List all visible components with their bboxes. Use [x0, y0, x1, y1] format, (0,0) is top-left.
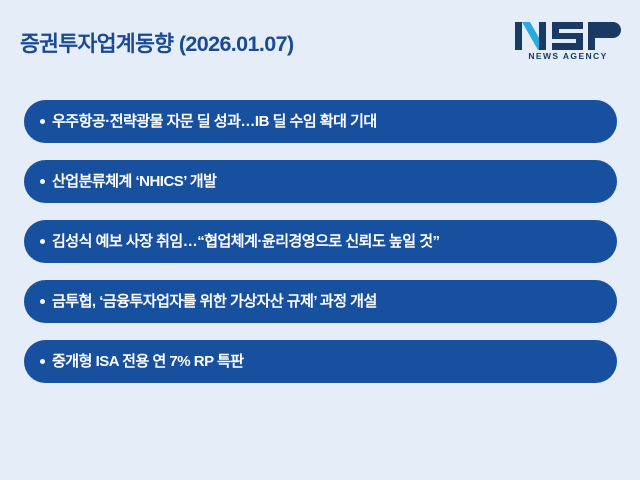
headline-text: 금투협, ‘금융투자업자를 위한 가상자산 규제’ 과정 개설	[52, 292, 617, 312]
page-title: 증권투자업계동향 (2026.01.07)	[20, 30, 294, 58]
slide-canvas: 증권투자업계동향 (2026.01.07) NEWS AGENCY	[0, 0, 640, 480]
list-item[interactable]: 우주항공·전략광물 자문 딜 성과…IB 딜 수임 확대 기대	[24, 100, 617, 143]
headline-text: 산업분류체계 ‘NHICS’ 개발	[52, 172, 617, 192]
headline-text: 김성식 예보 사장 취임…“협업체계·윤리경영으로 신뢰도 높일 것”	[52, 232, 617, 252]
list-item[interactable]: 산업분류체계 ‘NHICS’ 개발	[24, 160, 617, 203]
list-item[interactable]: 금투협, ‘금융투자업자를 위한 가상자산 규제’ 과정 개설	[24, 280, 617, 323]
bullet-dot-icon	[40, 179, 45, 184]
bullet-dot-icon	[40, 359, 45, 364]
nsp-logo-tagline: NEWS AGENCY	[513, 51, 623, 62]
headline-text: 우주항공·전략광물 자문 딜 성과…IB 딜 수임 확대 기대	[52, 112, 617, 132]
slide-header: 증권투자업계동향 (2026.01.07) NEWS AGENCY	[0, 0, 640, 92]
list-item[interactable]: 김성식 예보 사장 취임…“협업체계·윤리경영으로 신뢰도 높일 것”	[24, 220, 617, 263]
headline-list: 우주항공·전략광물 자문 딜 성과…IB 딜 수임 확대 기대 산업분류체계 ‘…	[24, 100, 617, 383]
bullet-dot-icon	[40, 299, 45, 304]
list-item[interactable]: 중개형 ISA 전용 연 7% RP 특판	[24, 340, 617, 383]
bullet-dot-icon	[40, 239, 45, 244]
headline-text: 중개형 ISA 전용 연 7% RP 특판	[52, 352, 617, 372]
nsp-wordmark-icon	[513, 20, 623, 52]
nsp-logo: NEWS AGENCY	[513, 20, 623, 66]
bullet-dot-icon	[40, 119, 45, 124]
